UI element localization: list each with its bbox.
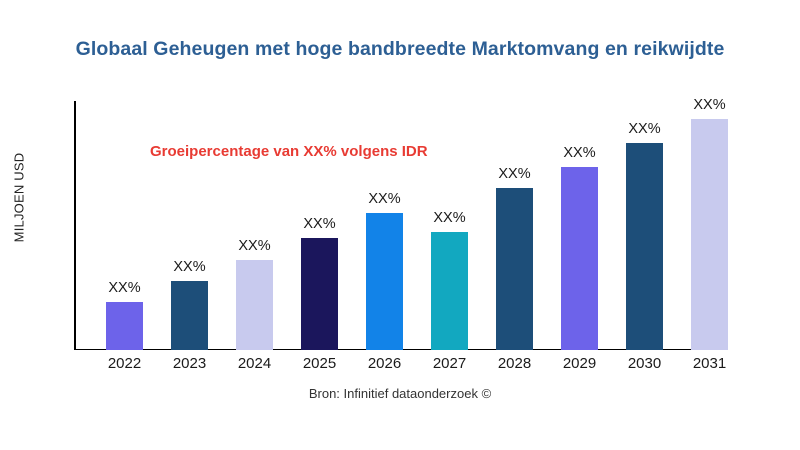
bar-value-label-2022: XX% (85, 280, 165, 296)
x-tick-label-2031: 2031 (670, 355, 750, 372)
bar-value-label-2029: XX% (540, 145, 620, 161)
bar-2022[interactable] (106, 302, 143, 350)
source-note: Bron: Infinitief dataonderzoek © (0, 386, 800, 401)
chart-page: Globaal Geheugen met hoge bandbreedte Ma… (0, 0, 800, 450)
bar-2027[interactable] (431, 232, 468, 350)
bar-value-label-2027: XX% (410, 210, 490, 226)
bar-2030[interactable] (626, 143, 663, 350)
bar-2028[interactable] (496, 188, 533, 350)
bar-2024[interactable] (236, 260, 273, 350)
page-title: Globaal Geheugen met hoge bandbreedte Ma… (0, 38, 800, 61)
y-axis-label: MILJOEN USD (12, 108, 27, 288)
bar-2026[interactable] (366, 213, 403, 350)
bar-2031[interactable] (691, 119, 728, 350)
bar-value-label-2028: XX% (475, 166, 555, 182)
bar-2025[interactable] (301, 238, 338, 350)
bar-2023[interactable] (171, 281, 208, 350)
bar-value-label-2026: XX% (345, 191, 425, 207)
bar-value-label-2031: XX% (670, 97, 750, 113)
bar-value-label-2024: XX% (215, 238, 295, 254)
bar-value-label-2030: XX% (605, 121, 685, 137)
bar-value-label-2025: XX% (280, 216, 360, 232)
growth-annotation: Groeipercentage van XX% volgens IDR (150, 143, 428, 160)
bar-value-label-2023: XX% (150, 259, 230, 275)
bar-2029[interactable] (561, 167, 598, 350)
